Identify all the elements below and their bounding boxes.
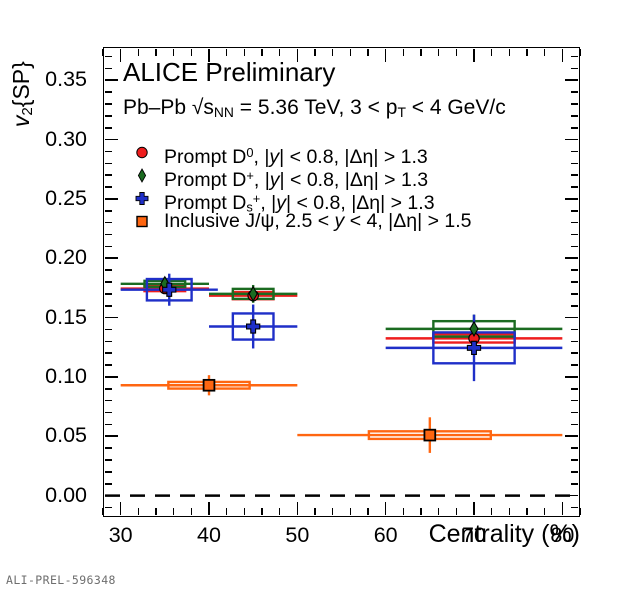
tick-mark xyxy=(332,49,334,56)
y-tick-label: 0.30 xyxy=(45,129,87,151)
tick-mark xyxy=(226,508,228,515)
tick-mark xyxy=(571,364,578,366)
tick-mark xyxy=(105,305,112,307)
tick-mark xyxy=(571,222,578,224)
tick-mark xyxy=(562,49,564,62)
tick-mark xyxy=(571,186,578,188)
tick-mark xyxy=(571,459,578,461)
tick-mark xyxy=(491,508,493,515)
tick-mark xyxy=(571,56,578,58)
tick-mark xyxy=(571,281,578,283)
tick-mark xyxy=(191,508,193,515)
tick-mark xyxy=(565,198,578,200)
tick-mark xyxy=(105,234,112,236)
tick-mark xyxy=(105,198,118,200)
tick-mark xyxy=(314,508,316,515)
tick-mark xyxy=(332,508,334,515)
tick-mark xyxy=(105,424,112,426)
tick-mark xyxy=(526,508,528,515)
tick-mark xyxy=(105,91,112,93)
tick-mark xyxy=(571,91,578,93)
tick-mark xyxy=(571,341,578,343)
tick-mark xyxy=(279,508,281,515)
tick-mark xyxy=(102,49,104,56)
tick-mark xyxy=(571,210,578,212)
tick-mark xyxy=(565,79,578,81)
tick-mark xyxy=(155,508,157,515)
tick-mark xyxy=(105,139,118,141)
tick-mark xyxy=(571,151,578,153)
tick-mark xyxy=(105,459,112,461)
tick-mark xyxy=(571,115,578,117)
tick-mark xyxy=(208,502,210,515)
y-tick-label-group: 0.000.050.100.150.200.250.300.35 xyxy=(0,0,96,599)
x-axis-title: Centrality (%) xyxy=(429,520,580,549)
tick-mark xyxy=(544,49,546,56)
tick-mark xyxy=(297,502,299,515)
tick-mark xyxy=(456,508,458,515)
tick-mark xyxy=(105,412,112,414)
tick-mark xyxy=(105,329,112,331)
tick-mark xyxy=(105,495,118,497)
legend-marker-filled-cross-icon xyxy=(126,187,158,210)
tick-mark xyxy=(571,234,578,236)
tick-mark xyxy=(571,269,578,271)
tick-mark xyxy=(456,49,458,56)
tick-mark xyxy=(105,388,112,390)
y-tick-label: 0.10 xyxy=(45,366,87,388)
tick-mark xyxy=(571,127,578,129)
tick-mark xyxy=(105,447,112,449)
tick-mark xyxy=(261,49,263,56)
legend-label: Inclusive J/ψ, 2.5 < y < 4, |Δη| > 1.5 xyxy=(164,210,472,233)
tick-mark xyxy=(509,508,511,515)
tick-mark xyxy=(105,293,112,295)
tick-mark xyxy=(579,49,581,56)
legend-marker-filled-diamond-icon xyxy=(126,164,158,187)
tick-mark xyxy=(105,257,118,259)
tick-mark xyxy=(571,163,578,165)
tick-mark xyxy=(544,508,546,515)
tick-mark xyxy=(565,435,578,437)
tick-mark xyxy=(385,502,387,515)
tick-mark xyxy=(438,49,440,56)
tick-mark xyxy=(105,352,112,354)
tick-mark xyxy=(138,49,140,56)
tick-mark xyxy=(105,151,112,153)
tick-mark xyxy=(571,329,578,331)
y-tick-label: 0.15 xyxy=(45,307,87,329)
tick-mark xyxy=(565,257,578,259)
tick-mark xyxy=(565,139,578,141)
y-tick-label: 0.00 xyxy=(45,485,87,507)
tick-mark xyxy=(120,49,122,62)
plot-header-system-energy: Pb–Pb √sNN = 5.36 TeV, 3 < pT < 4 GeV/c xyxy=(123,96,506,120)
tick-mark xyxy=(565,317,578,319)
tick-mark xyxy=(120,502,122,515)
tick-mark xyxy=(105,364,112,366)
tick-mark xyxy=(403,508,405,515)
tick-mark xyxy=(105,281,112,283)
tick-mark xyxy=(279,49,281,56)
tick-mark xyxy=(105,115,112,117)
tick-mark xyxy=(571,246,578,248)
tick-mark xyxy=(571,483,578,485)
tick-mark xyxy=(105,222,112,224)
tick-mark xyxy=(105,376,118,378)
x-tick-label: 50 xyxy=(285,525,309,547)
tick-mark xyxy=(105,127,112,129)
tick-mark xyxy=(102,508,104,515)
tick-mark xyxy=(579,508,581,515)
tick-mark xyxy=(571,388,578,390)
tick-mark xyxy=(261,508,263,515)
legend-marker-open-square-icon xyxy=(126,210,158,233)
tick-mark xyxy=(105,56,112,58)
tick-mark xyxy=(571,424,578,426)
tick-mark xyxy=(420,508,422,515)
tick-mark xyxy=(385,49,387,62)
tick-mark xyxy=(473,49,475,62)
tick-mark xyxy=(571,412,578,414)
y-tick-label: 0.20 xyxy=(45,247,87,269)
plot-header-alice-preliminary: ALICE Preliminary xyxy=(123,57,335,88)
tick-mark xyxy=(491,49,493,56)
tick-mark xyxy=(571,471,578,473)
tick-mark xyxy=(105,246,112,248)
tick-mark xyxy=(105,186,112,188)
tick-mark xyxy=(173,508,175,515)
tick-mark xyxy=(571,400,578,402)
tick-mark xyxy=(138,508,140,515)
tick-mark xyxy=(173,49,175,56)
tick-mark xyxy=(105,163,112,165)
legend-marker-filled-circle-icon xyxy=(126,141,158,164)
tick-mark xyxy=(105,435,118,437)
tick-mark xyxy=(350,49,352,56)
tick-mark xyxy=(571,305,578,307)
x-tick-label: 60 xyxy=(374,525,398,547)
watermark-label: ALI-PREL-596348 xyxy=(6,573,116,587)
tick-mark xyxy=(105,471,112,473)
tick-mark xyxy=(105,174,112,176)
tick-mark xyxy=(314,49,316,56)
tick-mark xyxy=(105,483,112,485)
tick-mark xyxy=(105,79,118,81)
x-tick-label: 40 xyxy=(197,525,221,547)
tick-mark xyxy=(473,502,475,515)
tick-mark xyxy=(403,49,405,56)
tick-mark xyxy=(565,376,578,378)
tick-mark xyxy=(244,49,246,56)
tick-mark xyxy=(571,447,578,449)
tick-mark xyxy=(105,68,112,70)
tick-mark xyxy=(350,508,352,515)
tick-mark xyxy=(571,352,578,354)
tick-mark xyxy=(509,49,511,56)
tick-mark xyxy=(571,174,578,176)
tick-mark xyxy=(420,49,422,56)
physics-plot-figure: v2{SP} 0.000.050.100.150.200.250.300.35 … xyxy=(0,0,620,599)
y-tick-label: 0.05 xyxy=(45,425,87,447)
tick-mark xyxy=(571,68,578,70)
y-tick-label: 0.25 xyxy=(45,188,87,210)
y-tick-label: 0.35 xyxy=(45,69,87,91)
tick-mark xyxy=(105,507,112,509)
tick-mark xyxy=(571,507,578,509)
tick-mark xyxy=(105,103,112,105)
x-tick-label: 30 xyxy=(109,525,133,547)
tick-mark xyxy=(244,508,246,515)
tick-mark xyxy=(367,508,369,515)
tick-mark xyxy=(105,400,112,402)
tick-mark xyxy=(571,293,578,295)
tick-mark xyxy=(367,49,369,56)
tick-mark xyxy=(155,49,157,56)
tick-mark xyxy=(105,341,112,343)
tick-mark xyxy=(105,317,118,319)
tick-mark xyxy=(562,502,564,515)
tick-mark xyxy=(526,49,528,56)
tick-mark xyxy=(105,269,112,271)
tick-mark xyxy=(571,103,578,105)
tick-mark xyxy=(105,210,112,212)
tick-mark xyxy=(438,508,440,515)
tick-mark xyxy=(226,49,228,56)
tick-mark xyxy=(191,49,193,56)
tick-mark xyxy=(565,495,578,497)
